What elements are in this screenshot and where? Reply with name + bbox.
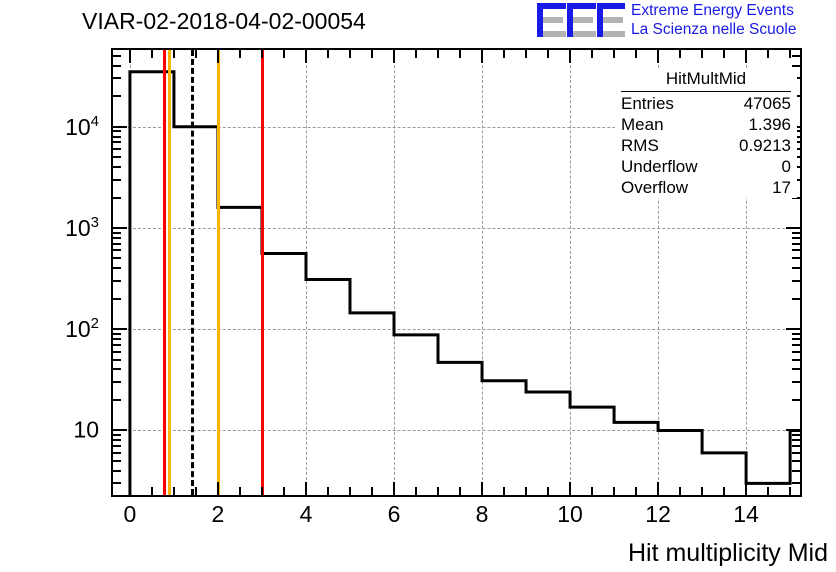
y-tick-major — [113, 328, 127, 330]
x-tick-top — [129, 50, 131, 63]
x-tick-top — [569, 50, 571, 63]
y-tick-minor — [113, 130, 121, 132]
x-tick-top — [217, 50, 219, 63]
y-tick-minor — [113, 439, 121, 441]
x-tick-major — [173, 487, 175, 495]
y-tick-minor — [113, 249, 121, 251]
x-tick-label: 8 — [476, 501, 489, 528]
eee-logo: Extreme Energy Events La Scienza nelle S… — [537, 2, 833, 40]
y-tick-minor — [113, 368, 121, 370]
x-tick-label: 0 — [124, 501, 137, 528]
stats-row-value: 0 — [782, 156, 791, 177]
y-tick-minor-right — [792, 280, 800, 282]
y-tick-minor-right — [792, 55, 800, 57]
x-tick-minor — [723, 487, 725, 495]
x-tick-top — [393, 50, 395, 63]
x-tick-minor — [239, 487, 241, 495]
x-tick-major — [745, 482, 747, 495]
x-tick-minor — [767, 487, 769, 495]
stats-row-label: RMS — [621, 135, 659, 156]
x-tick-top — [613, 50, 615, 58]
x-tick-major — [481, 482, 483, 495]
x-tick-top — [305, 50, 307, 63]
y-tick-minor-right — [792, 65, 800, 67]
x-tick-top — [481, 50, 483, 63]
y-tick-major — [113, 429, 127, 431]
y-tick-minor-right — [792, 434, 800, 436]
y-tick-minor — [113, 197, 121, 199]
x-tick-major — [789, 487, 791, 495]
y-tick-minor-right — [792, 482, 800, 484]
y-tick-minor-right — [792, 439, 800, 441]
stats-row: Underflow0 — [615, 156, 797, 177]
y-tick-minor-right — [792, 445, 800, 447]
y-tick-minor-right — [792, 333, 800, 335]
y-tick-minor-right — [792, 298, 800, 300]
x-tick-label: 6 — [388, 501, 401, 528]
x-tick-label: 10 — [557, 501, 583, 528]
y-tick-minor — [113, 136, 121, 138]
y-tick-minor — [113, 333, 121, 335]
y-tick-label: 104 — [0, 113, 99, 141]
x-tick-minor-top — [151, 50, 153, 58]
x-tick-minor-top — [283, 50, 285, 58]
y-tick-minor — [113, 344, 121, 346]
x-tick-minor-top — [591, 50, 593, 58]
x-tick-top — [789, 50, 791, 58]
stats-row-label: Mean — [621, 114, 664, 135]
eee-logo-line1: Extreme Energy Events — [631, 2, 796, 21]
x-tick-major — [437, 487, 439, 495]
y-tick-major — [113, 227, 127, 229]
y-tick-minor — [113, 65, 121, 67]
x-tick-minor — [415, 487, 417, 495]
y-tick-minor-right — [792, 399, 800, 401]
y-tick-minor — [113, 141, 121, 143]
y-tick-minor — [113, 359, 121, 361]
y-tick-minor-right — [792, 452, 800, 454]
x-tick-minor-top — [239, 50, 241, 58]
y-tick-minor — [113, 434, 121, 436]
y-tick-minor — [113, 381, 121, 383]
y-tick-minor — [113, 257, 121, 259]
y-tick-minor — [113, 179, 121, 181]
x-axis-title: Hit multiplicity Mid — [628, 539, 828, 568]
stats-row: Entries47065 — [615, 93, 797, 114]
stats-row-value: 1.396 — [748, 114, 791, 135]
x-tick-top — [745, 50, 747, 63]
stats-row: Mean1.396 — [615, 114, 797, 135]
x-tick-top — [261, 50, 263, 58]
x-tick-minor — [459, 487, 461, 495]
y-tick-minor — [113, 267, 121, 269]
stats-row-label: Underflow — [621, 156, 698, 177]
x-tick-major — [129, 482, 131, 495]
eee-logo-line2: La Scienza nelle Scuole — [631, 21, 796, 40]
x-tick-minor — [327, 487, 329, 495]
x-tick-label: 14 — [733, 501, 759, 528]
x-tick-major — [393, 482, 395, 495]
x-tick-top — [701, 50, 703, 58]
x-tick-minor — [591, 487, 593, 495]
x-tick-minor-top — [195, 50, 197, 58]
stats-row-value: 0.9213 — [739, 135, 791, 156]
y-tick-minor-right — [792, 267, 800, 269]
stats-row: RMS0.9213 — [615, 135, 797, 156]
x-tick-minor — [371, 487, 373, 495]
y-tick-minor — [113, 399, 121, 401]
x-tick-top — [525, 50, 527, 58]
x-tick-minor — [151, 487, 153, 495]
x-tick-minor — [283, 487, 285, 495]
y-tick-minor-right — [792, 381, 800, 383]
x-tick-minor — [503, 487, 505, 495]
x-tick-minor — [547, 487, 549, 495]
stats-row-value: 47065 — [744, 93, 791, 114]
y-tick-minor — [113, 452, 121, 454]
y-tick-minor-right — [792, 338, 800, 340]
stats-row-label: Entries — [621, 93, 674, 114]
y-tick-minor — [113, 445, 121, 447]
x-tick-top — [349, 50, 351, 58]
x-tick-label: 12 — [645, 501, 671, 528]
y-tick-minor — [113, 470, 121, 472]
y-tick-minor — [113, 280, 121, 282]
y-tick-minor-right — [792, 257, 800, 259]
y-tick-minor-right — [792, 243, 800, 245]
y-tick-label: 102 — [0, 315, 99, 343]
x-tick-major — [569, 482, 571, 495]
y-tick-minor — [113, 482, 121, 484]
y-tick-minor-right — [792, 460, 800, 462]
y-tick-minor-right — [792, 344, 800, 346]
x-tick-minor-top — [327, 50, 329, 58]
x-tick-major — [217, 482, 219, 495]
stats-histogram-name: HitMultMid — [621, 68, 791, 92]
y-tick-minor — [113, 237, 121, 239]
stats-row-value: 17 — [772, 177, 791, 198]
y-tick-minor — [113, 298, 121, 300]
y-tick-major-right — [786, 429, 800, 431]
x-tick-minor-top — [635, 50, 637, 58]
y-tick-major-right — [786, 328, 800, 330]
x-tick-minor — [679, 487, 681, 495]
eee-logo-text: Extreme Energy Events La Scienza nelle S… — [631, 2, 796, 39]
x-tick-minor-top — [503, 50, 505, 58]
x-tick-minor-top — [679, 50, 681, 58]
x-tick-minor — [635, 487, 637, 495]
y-tick-minor — [113, 232, 121, 234]
x-tick-label: 4 — [300, 501, 313, 528]
y-tick-minor — [113, 166, 121, 168]
y-tick-label: 10 — [0, 417, 99, 444]
x-tick-minor-top — [415, 50, 417, 58]
y-tick-minor — [113, 77, 121, 79]
x-tick-major — [349, 487, 351, 495]
y-tick-label: 103 — [0, 214, 99, 242]
x-tick-top — [437, 50, 439, 58]
y-tick-major-right — [786, 227, 800, 229]
x-tick-minor-top — [459, 50, 461, 58]
y-tick-minor-right — [792, 368, 800, 370]
x-tick-top — [657, 50, 659, 63]
x-tick-major — [701, 487, 703, 495]
y-tick-minor-right — [792, 470, 800, 472]
x-tick-major — [657, 482, 659, 495]
x-tick-major — [261, 487, 263, 495]
x-tick-top — [173, 50, 175, 58]
stats-row: Overflow17 — [615, 177, 797, 198]
y-tick-minor — [113, 148, 121, 150]
y-tick-minor — [113, 351, 121, 353]
x-tick-minor-top — [767, 50, 769, 58]
y-tick-minor-right — [792, 359, 800, 361]
y-tick-major — [113, 126, 127, 128]
y-tick-minor — [113, 460, 121, 462]
x-tick-major — [305, 482, 307, 495]
y-tick-minor-right — [792, 237, 800, 239]
x-tick-label: 2 — [212, 501, 225, 528]
x-tick-major — [613, 487, 615, 495]
statistics-box: HitMultMid Entries47065Mean1.396RMS0.921… — [615, 68, 797, 198]
y-tick-minor-right — [792, 351, 800, 353]
y-tick-minor — [113, 55, 121, 57]
y-tick-minor-right — [792, 249, 800, 251]
x-tick-major — [525, 487, 527, 495]
page-title: VIAR-02-2018-04-02-00054 — [82, 8, 366, 35]
x-tick-minor — [195, 487, 197, 495]
x-tick-minor-top — [723, 50, 725, 58]
eee-logo-mark — [537, 3, 625, 37]
y-tick-minor-right — [792, 232, 800, 234]
x-tick-minor-top — [547, 50, 549, 58]
x-tick-minor-top — [371, 50, 373, 58]
stats-row-label: Overflow — [621, 177, 688, 198]
y-tick-minor — [113, 156, 121, 158]
y-tick-minor — [113, 243, 121, 245]
y-tick-minor — [113, 338, 121, 340]
y-tick-minor — [113, 95, 121, 97]
